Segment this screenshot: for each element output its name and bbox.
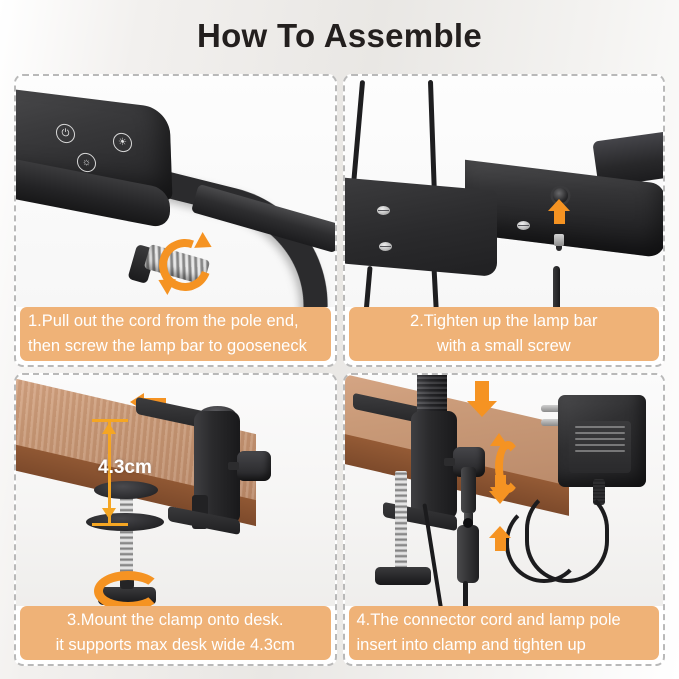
up-arrow-icon	[554, 210, 565, 224]
connector-cord-tail	[463, 581, 468, 606]
label-line-1	[575, 426, 625, 428]
step-3-illustration: 4.3cm	[16, 375, 335, 606]
clamp-thumb-knob	[237, 451, 271, 481]
step-2-caption-line-1: 2.Tighten up the lamp bar	[410, 309, 597, 334]
barrel-connector-male	[461, 467, 476, 513]
step-panel-3: 4.3cm 3.Mount the clamp onto desk. it su…	[14, 373, 337, 666]
dimension-arrow-top-icon	[102, 423, 116, 434]
adapter-cable-loop-inner	[505, 503, 583, 583]
barrel-connector-female	[457, 525, 479, 583]
screw-icon-3	[517, 221, 530, 230]
hex-key-long-arm	[553, 266, 560, 307]
adapter-rating-label	[569, 421, 631, 473]
step-1-illustration: ⏻ ☀ ☼	[16, 76, 335, 307]
step-3-caption-line-2: it supports max desk wide 4.3cm	[56, 633, 295, 658]
page-header: How To Assemble	[0, 0, 679, 72]
label-line-3	[575, 438, 625, 440]
label-line-2	[575, 432, 625, 434]
dimension-label: 4.3cm	[98, 457, 152, 479]
small-screw	[554, 234, 564, 246]
page-title: How To Assemble	[197, 17, 482, 55]
label-line-4	[575, 444, 625, 446]
rotate-arrow-head-up-icon	[490, 433, 508, 446]
label-line-5	[575, 450, 625, 452]
dimension-arrow-bottom-icon	[102, 508, 116, 519]
screw-icon-1	[377, 206, 390, 215]
step-2-illustration	[345, 76, 664, 307]
step-3-caption-line-1: 3.Mount the clamp onto desk.	[67, 608, 283, 633]
clamp-tighten-handle	[375, 567, 431, 585]
assembly-instruction-page: How To Assemble ⏻ ☀ ☼ 1.Pull out the co	[0, 0, 679, 679]
down-arrow-icon	[475, 381, 489, 401]
step-4-caption-line-1: 4.The connector cord and lamp pole	[357, 608, 621, 633]
clamp-threaded-rod	[395, 471, 407, 571]
step-4-caption: 4.The connector cord and lamp pole inser…	[349, 606, 660, 660]
clamp-pad-upper	[94, 481, 158, 499]
step-3-caption: 3.Mount the clamp onto desk. it supports…	[20, 606, 331, 660]
instruction-panel-grid: ⏻ ☀ ☼ 1.Pull out the cord from the pole …	[14, 74, 665, 666]
step-panel-1: ⏻ ☀ ☼ 1.Pull out the cord from the pole …	[14, 74, 337, 367]
connect-down-arrow-icon	[495, 475, 506, 491]
clamp-pad-lower	[86, 513, 164, 531]
connect-up-arrow-icon	[495, 537, 506, 551]
screw-icon-2	[379, 242, 392, 251]
step-2-caption: 2.Tighten up the lamp bar with a small s…	[349, 307, 660, 361]
step-panel-2: 2.Tighten up the lamp bar with a small s…	[343, 74, 666, 367]
step-2-caption-line-2: with a small screw	[437, 334, 571, 359]
dimension-cap-bottom	[92, 523, 128, 526]
step-1-caption-line-2: then screw the lamp bar to gooseneck	[28, 334, 307, 359]
step-1-caption-line-1: 1.Pull out the cord from the pole end,	[28, 309, 299, 334]
step-4-illustration	[345, 375, 664, 606]
lamp-mounting-plate	[345, 177, 497, 277]
step-panel-4: 4.The connector cord and lamp pole inser…	[343, 373, 666, 666]
step-4-caption-line-2: insert into clamp and tighten up	[357, 633, 586, 658]
step-1-caption: 1.Pull out the cord from the pole end, t…	[20, 307, 331, 361]
